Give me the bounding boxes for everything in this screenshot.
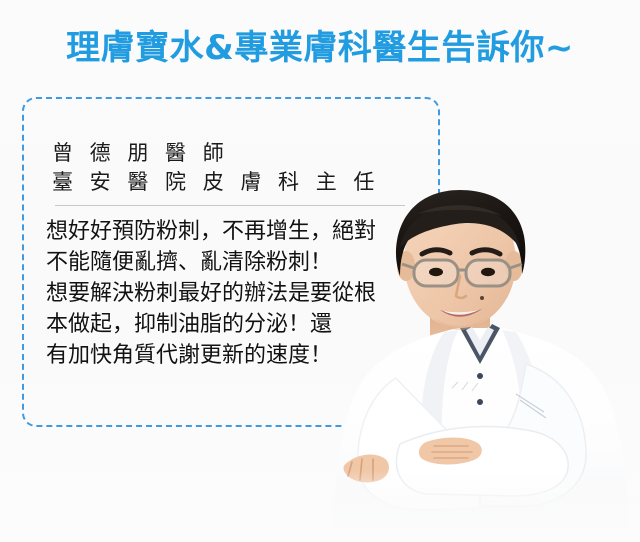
quote-line: 想好好預防粉刺，不再增生，絕對	[46, 216, 446, 247]
promo-banner: 理膚寶水&專業膚科醫生告訴你~ 曾 德 朋 醫 師 臺 安 醫 院 皮 膚 科 …	[0, 0, 640, 542]
page-title: 理膚寶水&專業膚科醫生告訴你~	[0, 26, 640, 70]
quote-line: 有加快角質代謝更新的速度！	[46, 340, 446, 371]
quote-body: 想好好預防粉刺，不再增生，絕對 不能隨便亂擠、亂清除粉刺！ 想要解決粉刺最好的辦…	[46, 216, 446, 371]
quote-line: 本做起，抑制油脂的分泌！還	[46, 309, 446, 340]
doctor-name: 曾 德 朋 醫 師	[52, 139, 229, 168]
quote-line: 不能隨便亂擠、亂清除粉刺！	[46, 247, 446, 278]
quote-line: 想要解決粉刺最好的辦法是要從根	[46, 278, 446, 309]
